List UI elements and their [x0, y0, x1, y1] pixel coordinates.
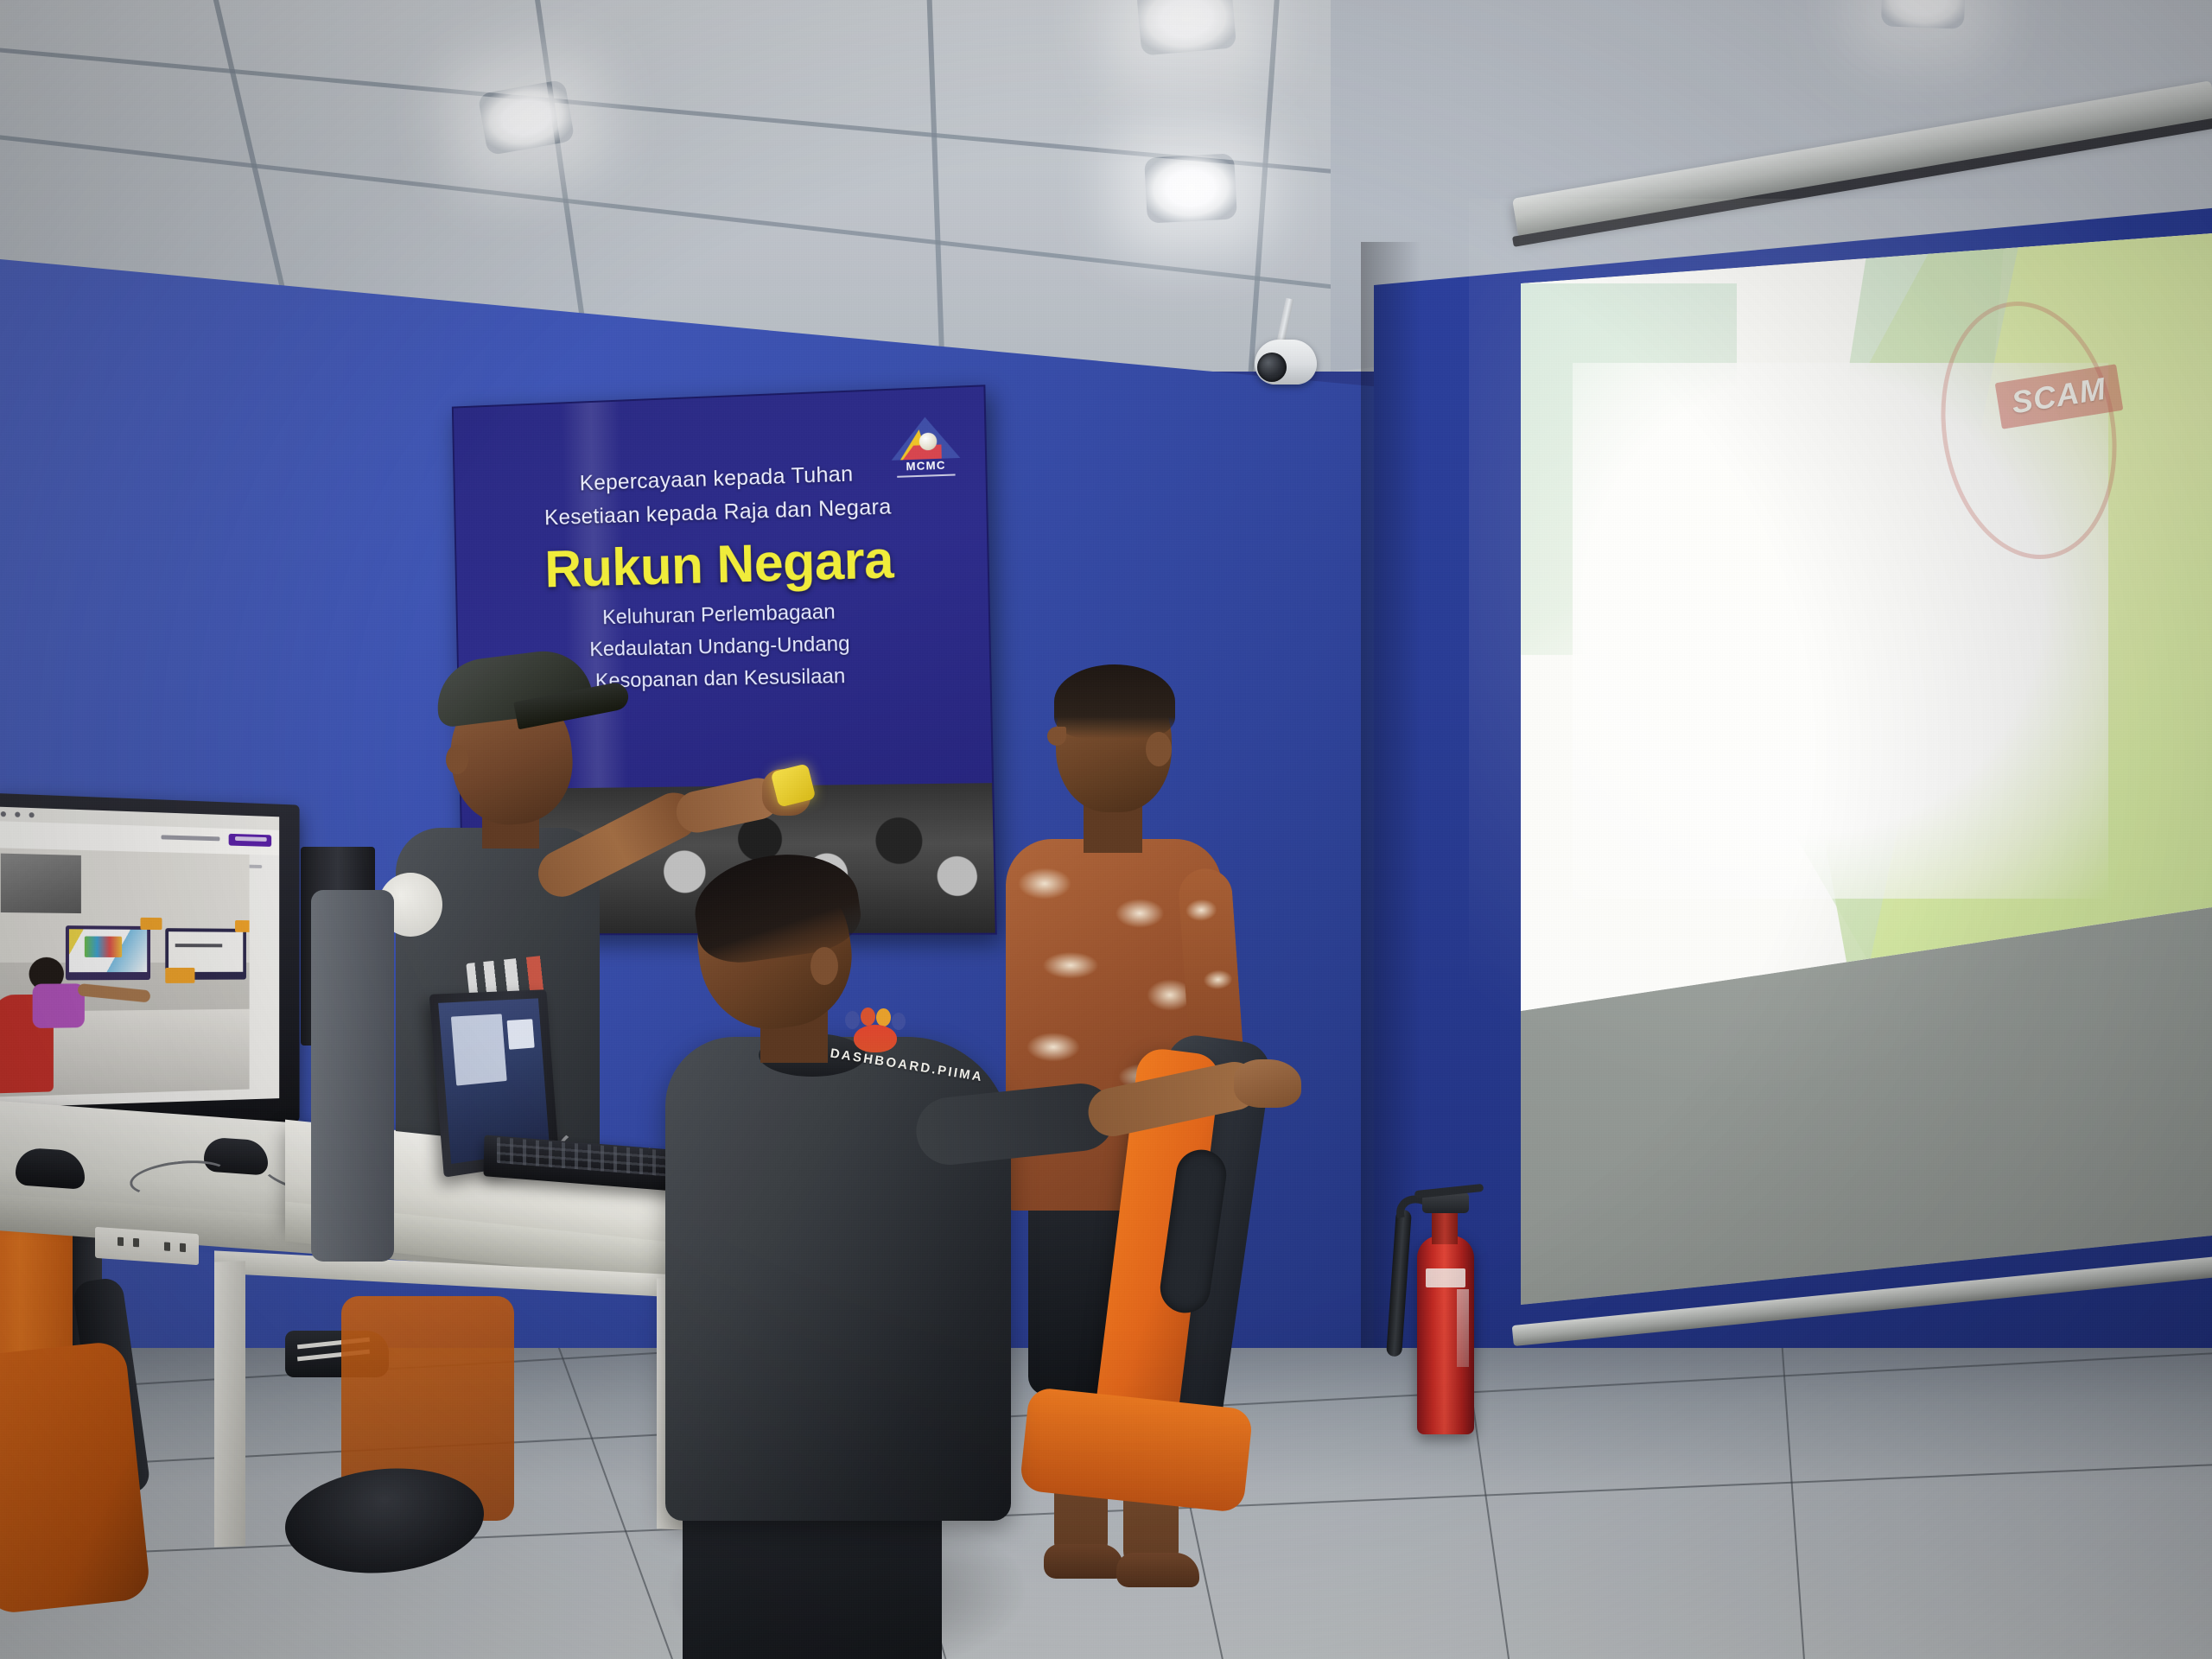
browser-reload-icon[interactable]	[29, 812, 35, 817]
ceiling-light-3	[1144, 153, 1237, 223]
boy-cap-ear	[446, 745, 468, 774]
photo-wall-poster	[1, 854, 81, 913]
room-photo: MCMC Kepercayaan kepada Tuhan Kesetiaan …	[0, 0, 2212, 1659]
extinguisher-neck	[1432, 1210, 1458, 1244]
photo-label-tag-2	[235, 920, 250, 932]
photo-child-arm	[77, 983, 150, 1003]
laptop-window-1	[451, 1014, 507, 1085]
cctv-lens-icon	[1257, 353, 1287, 382]
camo-foot-right	[1116, 1553, 1199, 1587]
photo-monitor-left	[66, 925, 150, 980]
ceiling-light-2	[1136, 0, 1236, 56]
wall-corner-shadow	[1361, 242, 1421, 1434]
laptop-window-2	[507, 1019, 535, 1049]
front-desk-leg-left	[214, 1261, 245, 1547]
desktop-monitor[interactable]	[0, 793, 300, 1134]
camo-ear	[1146, 732, 1172, 766]
seated-boy-ear	[810, 947, 838, 985]
photo-label-tag-3	[165, 968, 194, 983]
photo-label-tag-1	[140, 918, 162, 930]
ceiling-light-4	[1881, 0, 1966, 29]
photo-child-body	[33, 983, 85, 1028]
projection-screen: SCAM	[1521, 233, 2212, 1339]
poster-line-3: Keluhuran Perlembagaan	[458, 596, 989, 633]
poster-title: Rukun Negara	[456, 525, 988, 601]
extinguisher-label	[1426, 1268, 1465, 1287]
monitor-screen[interactable]	[0, 806, 279, 1108]
background-person-leg	[311, 890, 394, 1262]
browser-nav-forward-icon[interactable]	[15, 812, 20, 817]
person-seated-boy: DASHBOARD.PIIMA	[657, 864, 1106, 1659]
seated-boy-hand	[1234, 1059, 1301, 1108]
extinguisher-stripe	[1457, 1289, 1469, 1367]
browser-nav-back-icon[interactable]	[1, 811, 6, 817]
chair-left-lower[interactable]	[0, 1340, 151, 1615]
page-photo	[0, 848, 250, 1096]
camo-hair	[1054, 664, 1175, 739]
scam-badge-label: SCAM	[2009, 371, 2108, 421]
projected-slide: SCAM	[1521, 233, 2212, 1011]
screen-surface: SCAM	[1521, 233, 2212, 1305]
camo-nose	[1047, 727, 1066, 746]
page-primary-button-label	[235, 836, 267, 842]
